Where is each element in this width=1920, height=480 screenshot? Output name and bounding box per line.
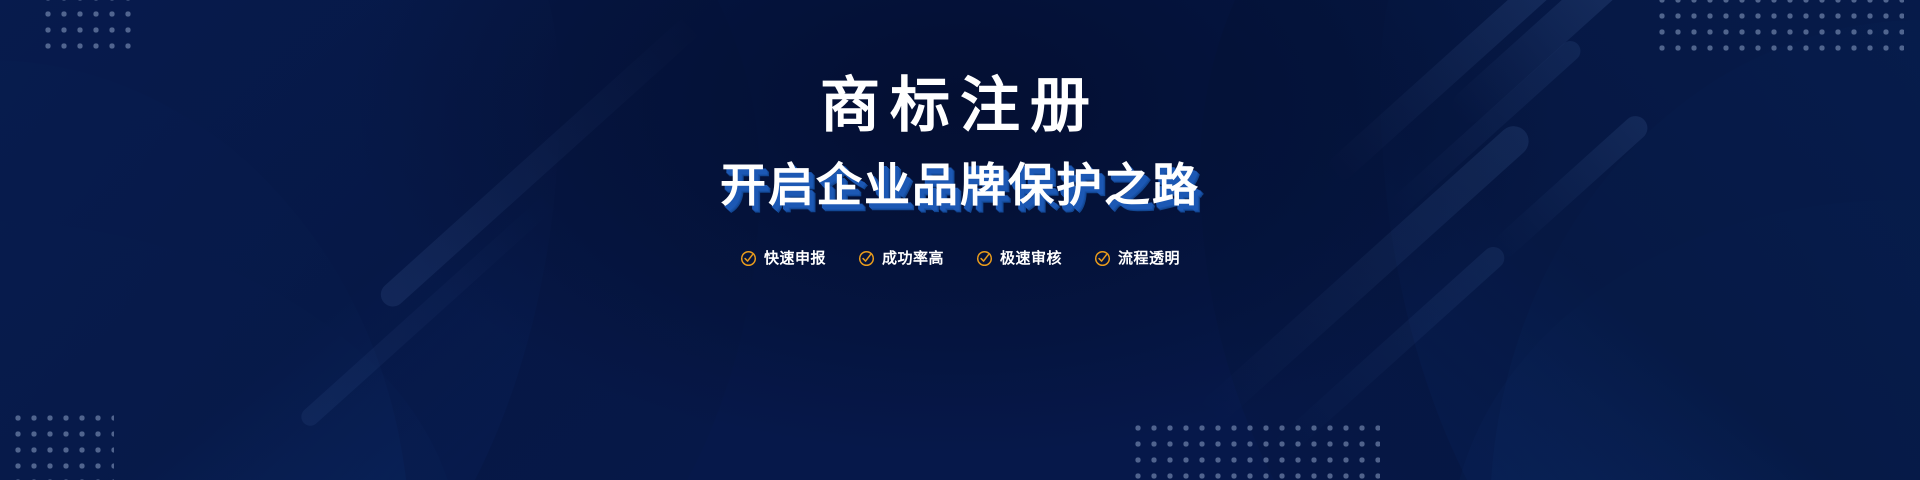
trademark-registration-banner: 商标注册 开启企业品牌保护之路 快速申报: [0, 0, 1920, 480]
feature-tag-label: 流程透明: [1118, 251, 1180, 266]
feature-tag-label: 快速申报: [764, 251, 826, 266]
check-circle-icon: [858, 250, 875, 267]
feature-tag-list: 快速申报 成功率高 极速审核: [740, 250, 1180, 267]
banner-main-title: 商标注册: [820, 76, 1100, 136]
check-circle-icon: [976, 250, 993, 267]
feature-tag-label: 成功率高: [882, 251, 944, 266]
feature-tag: 流程透明: [1094, 250, 1180, 267]
feature-tag: 快速申报: [740, 250, 826, 267]
feature-tag: 成功率高: [858, 250, 944, 267]
feature-tag: 极速审核: [976, 250, 1062, 267]
banner-content: 商标注册 开启企业品牌保护之路 快速申报: [0, 0, 1920, 480]
feature-tag-label: 极速审核: [1000, 251, 1062, 266]
check-circle-icon: [1094, 250, 1111, 267]
banner-subtitle: 开启企业品牌保护之路: [720, 162, 1200, 208]
check-circle-icon: [740, 250, 757, 267]
